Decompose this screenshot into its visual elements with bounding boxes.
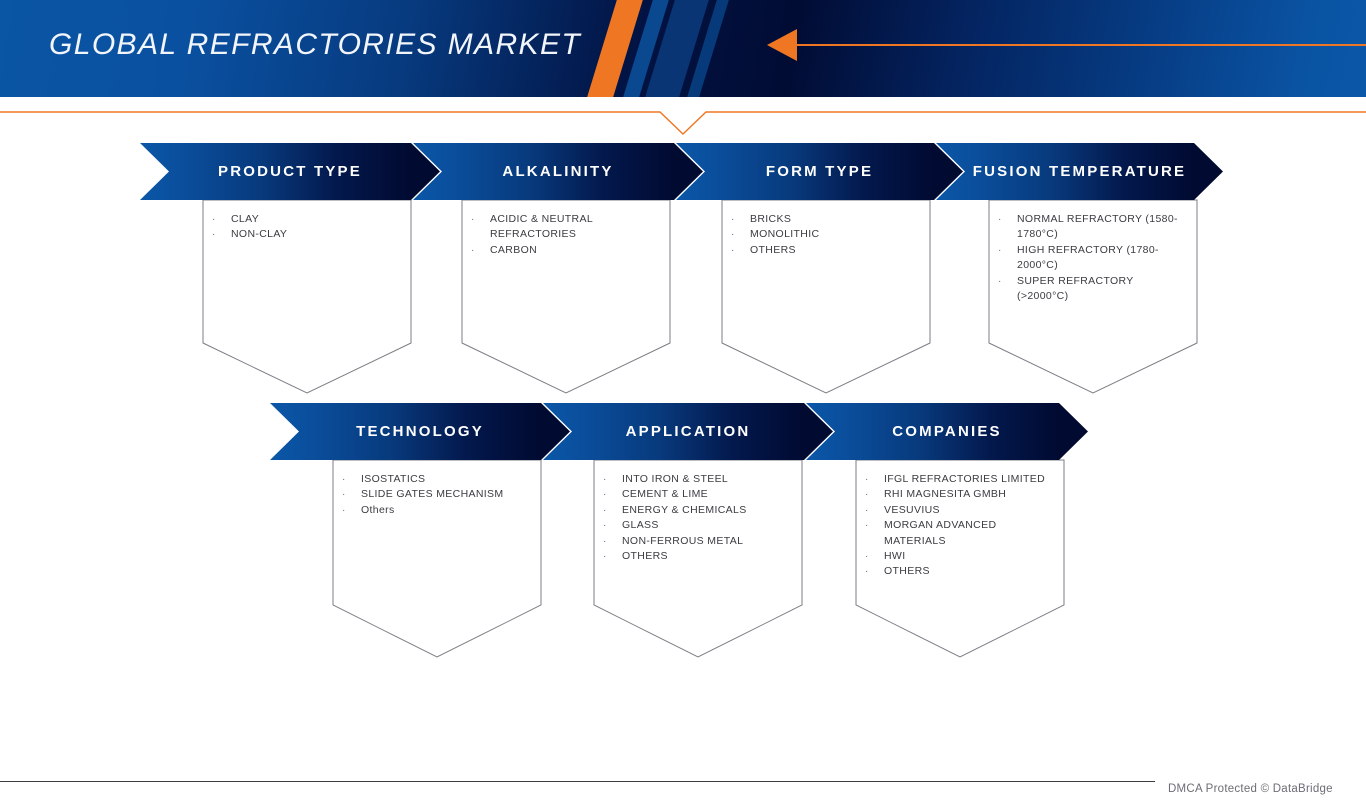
card-list: ·ACIDIC & NEUTRAL REFRACTORIES·CARBON: [462, 200, 670, 258]
card-alkalinity: ·ACIDIC & NEUTRAL REFRACTORIES·CARBON: [462, 200, 670, 393]
infographic-slide: GLOBAL REFRACTORIES MARKET PRODUCT TYPE …: [0, 0, 1366, 808]
list-item: ·INTO IRON & STEEL: [600, 472, 792, 487]
list-item-label: SUPER REFRACTORY (>2000°C): [1017, 274, 1187, 305]
list-item-label: VESUVIUS: [884, 503, 1054, 518]
footer-rule: [0, 781, 1155, 782]
banner-label: ALKALINITY: [502, 163, 613, 180]
bullet-icon: ·: [600, 503, 622, 518]
list-item: ·CARBON: [468, 243, 660, 258]
list-item: ·NORMAL REFRACTORY (1580-1780°C): [995, 212, 1187, 243]
list-item-label: GLASS: [622, 518, 792, 533]
card-list: ·ISOSTATICS·SLIDE GATES MECHANISM·Others: [333, 460, 541, 518]
list-item-label: HIGH REFRACTORY (1780-2000°C): [1017, 243, 1187, 274]
bullet-icon: ·: [862, 549, 884, 564]
list-item-label: BRICKS: [750, 212, 920, 227]
list-item-label: NON-CLAY: [231, 227, 401, 242]
banner-label: FORM TYPE: [766, 163, 873, 180]
list-item-label: RHI MAGNESITA GMBH: [884, 487, 1054, 502]
bullet-icon: ·: [995, 212, 1017, 227]
bullet-icon: ·: [600, 549, 622, 564]
list-item-label: INTO IRON & STEEL: [622, 472, 792, 487]
banner-fusion-temperature[interactable]: FUSION TEMPERATURE: [936, 143, 1223, 200]
list-item-label: NON-FERROUS METAL: [622, 534, 792, 549]
list-item: ·Others: [339, 503, 531, 518]
list-item-label: Others: [361, 503, 531, 518]
list-item: ·IFGL REFRACTORIES LIMITED: [862, 472, 1054, 487]
bullet-icon: ·: [468, 243, 490, 258]
list-item-label: CEMENT & LIME: [622, 487, 792, 502]
bullet-icon: ·: [862, 564, 884, 579]
bullet-icon: ·: [728, 227, 750, 242]
bullet-icon: ·: [468, 212, 490, 227]
list-item: ·OTHERS: [728, 243, 920, 258]
list-item-label: ISOSTATICS: [361, 472, 531, 487]
list-item-label: ENERGY & CHEMICALS: [622, 503, 792, 518]
banner-label: TECHNOLOGY: [356, 423, 484, 440]
list-item: ·MORGAN ADVANCED MATERIALS: [862, 518, 1054, 549]
list-item: ·ACIDIC & NEUTRAL REFRACTORIES: [468, 212, 660, 243]
list-item: ·SLIDE GATES MECHANISM: [339, 487, 531, 502]
footer-copyright: DMCA Protected © DataBridge: [1168, 783, 1333, 795]
list-item: ·SUPER REFRACTORY (>2000°C): [995, 274, 1187, 305]
bullet-icon: ·: [600, 518, 622, 533]
list-item: ·GLASS: [600, 518, 792, 533]
list-item-label: HWI: [884, 549, 1054, 564]
banner-companies[interactable]: COMPANIES: [806, 403, 1088, 460]
bullet-icon: ·: [728, 243, 750, 258]
list-item-label: NORMAL REFRACTORY (1580-1780°C): [1017, 212, 1187, 243]
bullet-icon: ·: [995, 274, 1017, 289]
list-item-label: CARBON: [490, 243, 660, 258]
list-item: ·HWI: [862, 549, 1054, 564]
banner-label: COMPANIES: [892, 423, 1002, 440]
card-product-type: ·CLAY·NON-CLAY: [203, 200, 411, 393]
banner-product-type[interactable]: PRODUCT TYPE: [140, 143, 440, 200]
list-item-label: MONOLITHIC: [750, 227, 920, 242]
list-item-label: OTHERS: [750, 243, 920, 258]
list-item: ·MONOLITHIC: [728, 227, 920, 242]
bullet-icon: ·: [209, 227, 231, 242]
card-application: ·INTO IRON & STEEL·CEMENT & LIME·ENERGY …: [594, 460, 802, 657]
list-item-label: IFGL REFRACTORIES LIMITED: [884, 472, 1054, 487]
bullet-icon: ·: [209, 212, 231, 227]
banner-application[interactable]: APPLICATION: [543, 403, 833, 460]
card-list: ·CLAY·NON-CLAY: [203, 200, 411, 243]
list-item: ·BRICKS: [728, 212, 920, 227]
list-item-label: ACIDIC & NEUTRAL REFRACTORIES: [490, 212, 660, 243]
banner-form-type[interactable]: FORM TYPE: [676, 143, 963, 200]
list-item: ·NON-FERROUS METAL: [600, 534, 792, 549]
list-item: ·ENERGY & CHEMICALS: [600, 503, 792, 518]
banner-label: FUSION TEMPERATURE: [973, 163, 1187, 180]
banner-label: APPLICATION: [626, 423, 751, 440]
banner-technology[interactable]: TECHNOLOGY: [270, 403, 570, 460]
card-companies: ·IFGL REFRACTORIES LIMITED·RHI MAGNESITA…: [856, 460, 1064, 657]
list-item: ·OTHERS: [600, 549, 792, 564]
list-item: ·ISOSTATICS: [339, 472, 531, 487]
bullet-icon: ·: [862, 472, 884, 487]
bullet-icon: ·: [728, 212, 750, 227]
card-list: ·IFGL REFRACTORIES LIMITED·RHI MAGNESITA…: [856, 460, 1064, 580]
list-item: ·NON-CLAY: [209, 227, 401, 242]
list-item: ·CLAY: [209, 212, 401, 227]
card-list: ·INTO IRON & STEEL·CEMENT & LIME·ENERGY …: [594, 460, 802, 564]
card-fusion-temperature: ·NORMAL REFRACTORY (1580-1780°C)·HIGH RE…: [989, 200, 1197, 393]
card-list: ·BRICKS·MONOLITHIC·OTHERS: [722, 200, 930, 258]
list-item-label: OTHERS: [622, 549, 792, 564]
bullet-icon: ·: [862, 503, 884, 518]
bullet-icon: ·: [600, 487, 622, 502]
bullet-icon: ·: [862, 518, 884, 533]
list-item: ·HIGH REFRACTORY (1780-2000°C): [995, 243, 1187, 274]
card-form-type: ·BRICKS·MONOLITHIC·OTHERS: [722, 200, 930, 393]
bullet-icon: ·: [339, 472, 361, 487]
list-item-label: CLAY: [231, 212, 401, 227]
banner-alkalinity[interactable]: ALKALINITY: [413, 143, 703, 200]
list-item: ·RHI MAGNESITA GMBH: [862, 487, 1054, 502]
list-item: ·CEMENT & LIME: [600, 487, 792, 502]
list-item-label: OTHERS: [884, 564, 1054, 579]
card-list: ·NORMAL REFRACTORY (1580-1780°C)·HIGH RE…: [989, 200, 1197, 304]
card-technology: ·ISOSTATICS·SLIDE GATES MECHANISM·Others: [333, 460, 541, 657]
bullet-icon: ·: [339, 503, 361, 518]
banner-label: PRODUCT TYPE: [218, 163, 362, 180]
list-item: ·VESUVIUS: [862, 503, 1054, 518]
list-item: ·OTHERS: [862, 564, 1054, 579]
bullet-icon: ·: [600, 534, 622, 549]
list-item-label: SLIDE GATES MECHANISM: [361, 487, 531, 502]
bullet-icon: ·: [995, 243, 1017, 258]
bullet-icon: ·: [862, 487, 884, 502]
bullet-icon: ·: [600, 472, 622, 487]
list-item-label: MORGAN ADVANCED MATERIALS: [884, 518, 1054, 549]
bullet-icon: ·: [339, 487, 361, 502]
